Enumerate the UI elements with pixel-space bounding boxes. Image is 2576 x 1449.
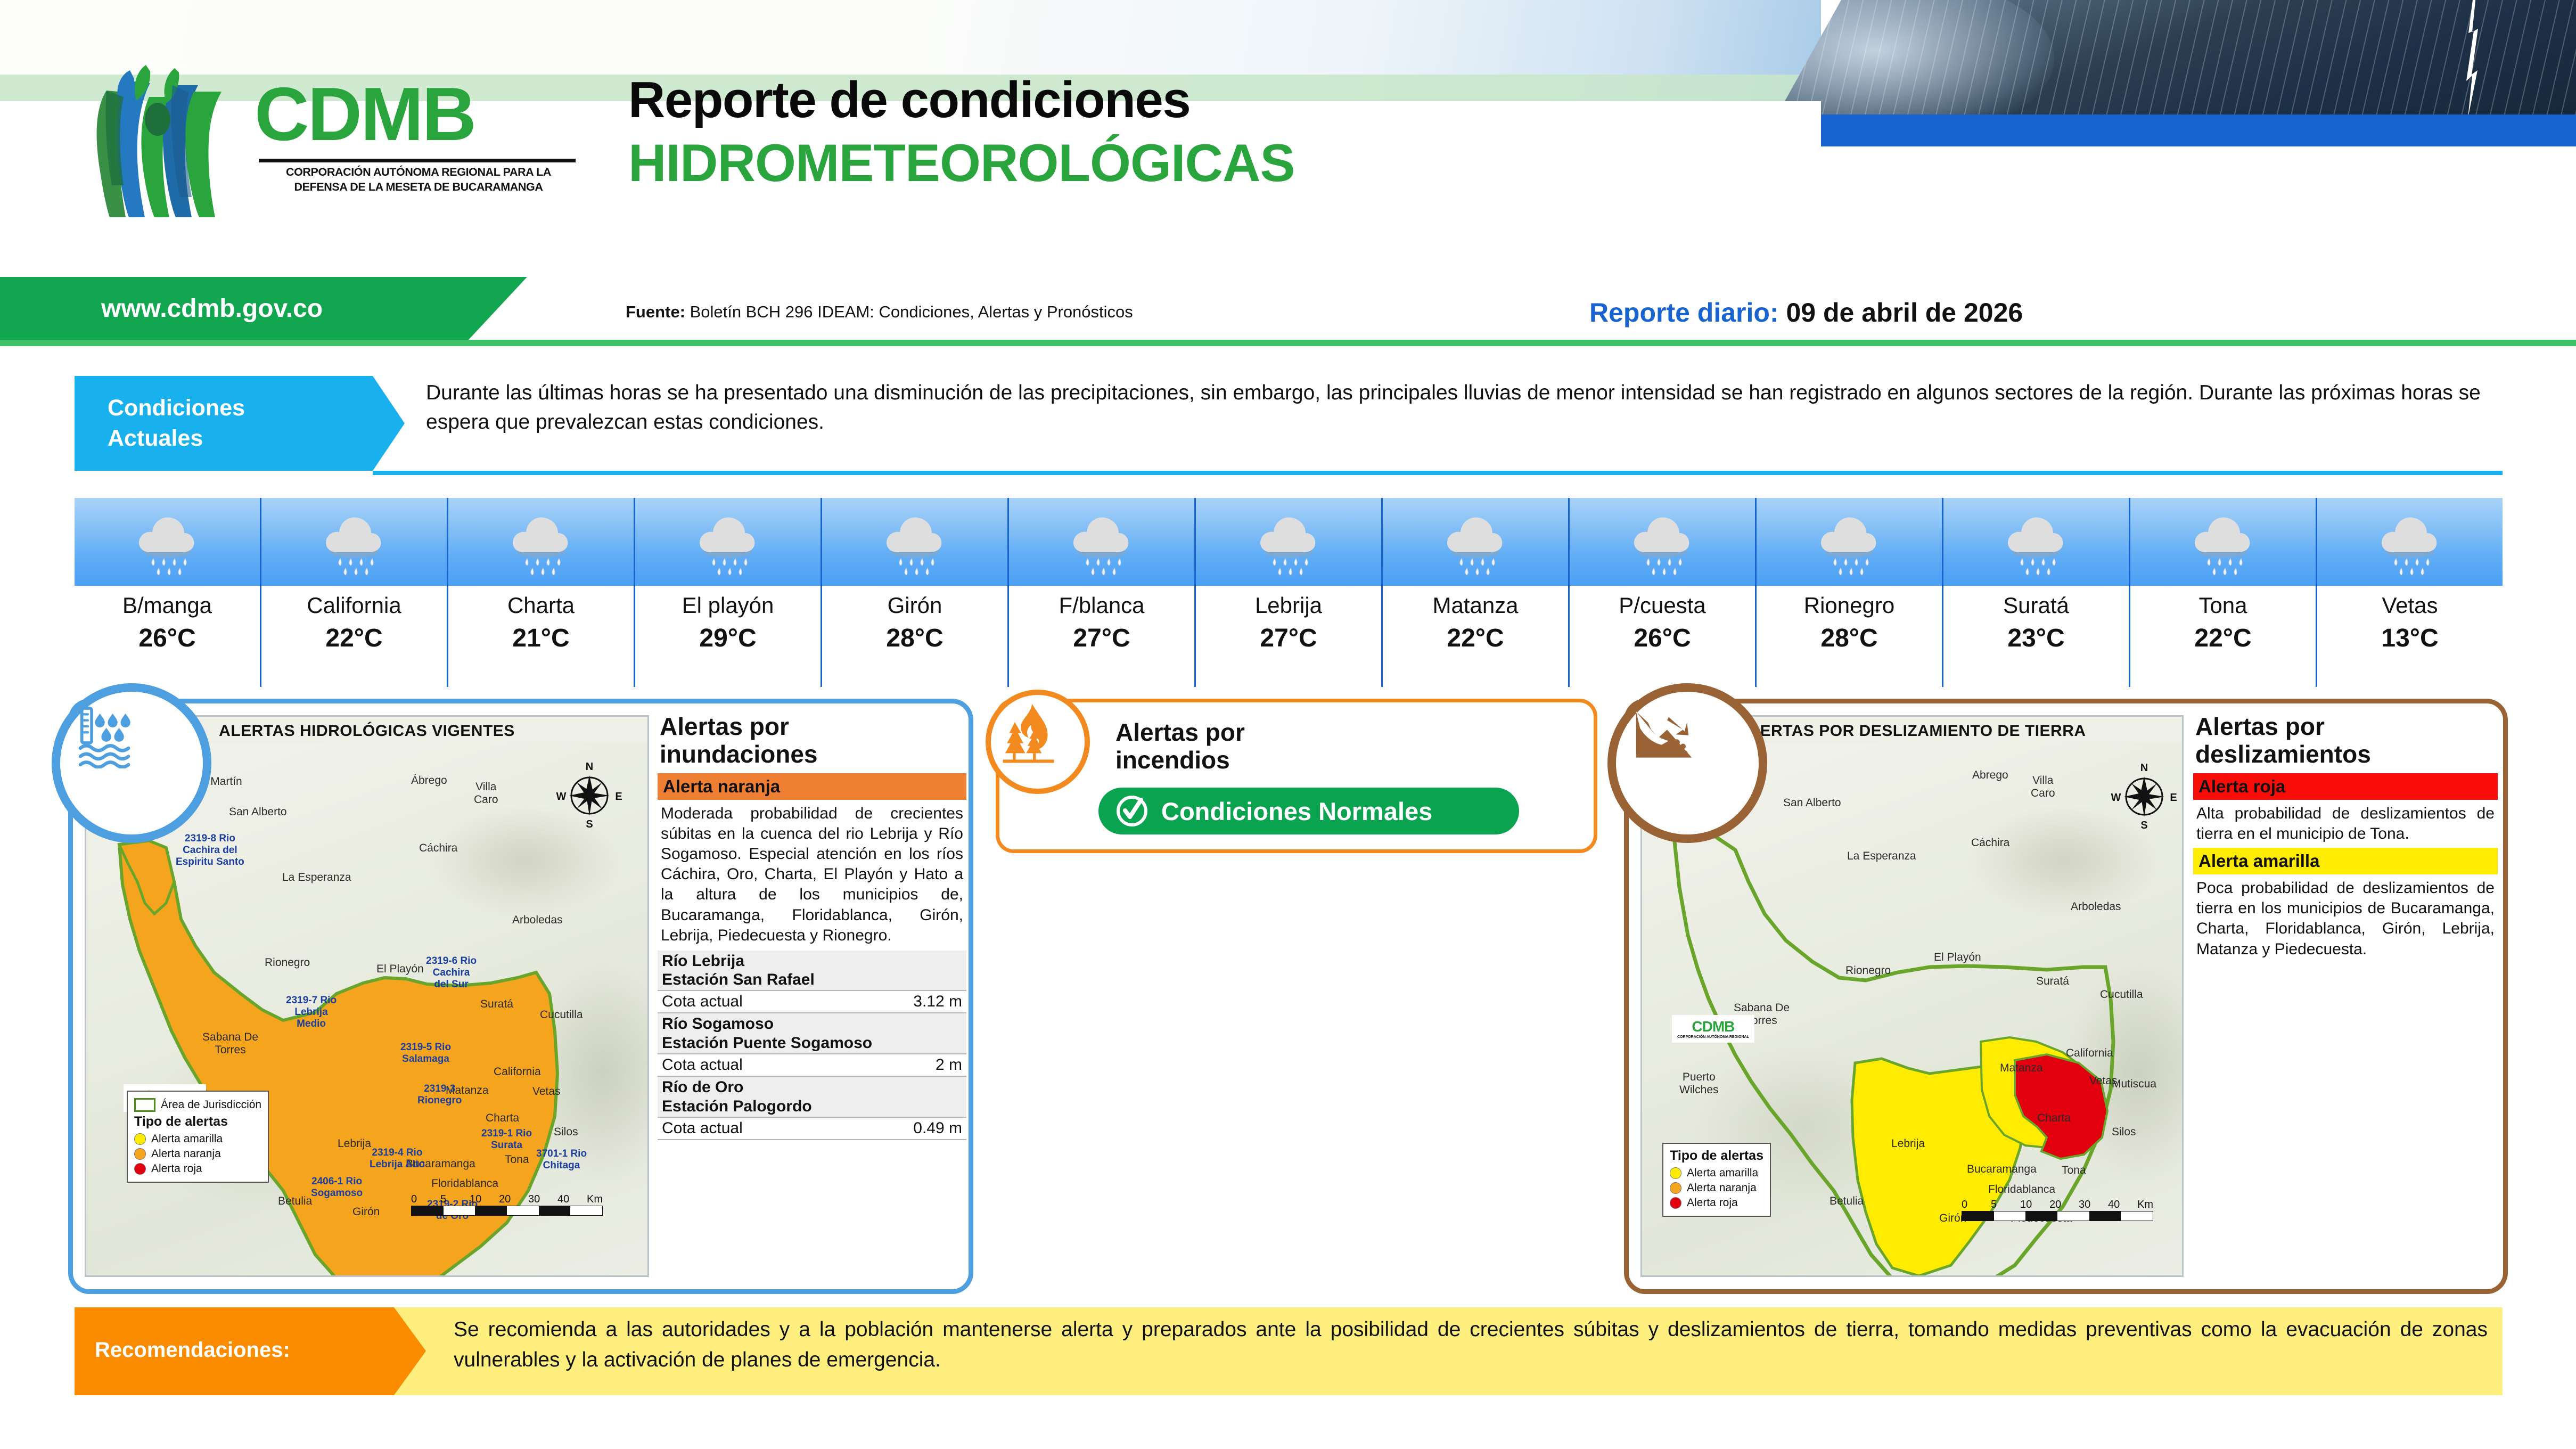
map-basin-label: 2319-6 RioCachiradel Sur — [426, 955, 477, 990]
map-label: Matanza — [2000, 1062, 2043, 1075]
table-row: Cota actual 3.12 m — [658, 990, 966, 1013]
cdmb-figures-icon — [79, 60, 255, 219]
conditions-tab-line1: Condiciones — [108, 393, 245, 423]
weather-column[interactable]: El playón 29°C — [635, 498, 822, 687]
fire-panel-title: Alertas por incendios — [1115, 718, 1245, 774]
svg-text:W: W — [556, 791, 567, 803]
station-metric-label: Cota actual — [658, 990, 846, 1013]
compass-rose-icon: N S E W — [2110, 760, 2179, 830]
map-label: San Alberto — [229, 806, 287, 818]
map-label: Sabana DeTorres — [202, 1031, 258, 1057]
weather-temperature: 22°C — [261, 624, 447, 653]
water-level-icon — [75, 705, 139, 768]
website-url[interactable]: www.cdmb.gov.co — [101, 294, 323, 323]
scale-unit: Km — [2137, 1199, 2153, 1211]
report-date-line: Reporte diario: 09 de abril de 2026 — [1589, 297, 2023, 328]
legend-color-dot — [134, 1148, 146, 1160]
map-label: Tona — [505, 1153, 529, 1166]
map-label: Rionegro — [1845, 964, 1891, 977]
legend-row: Alerta naranja — [1670, 1182, 1763, 1194]
weather-temperature: 28°C — [822, 624, 1007, 653]
flood-alert-details: Alertas por inundaciones Alerta naranja … — [658, 711, 966, 1285]
weather-column[interactable]: Lebrija 27°C — [1196, 498, 1383, 687]
page-header: CDMB CORPORACIÓN AUTÓNOMA REGIONAL PARA … — [0, 0, 2576, 277]
station-river: Río Sogamoso — [662, 1014, 962, 1033]
legend-label: Alerta roja — [151, 1163, 202, 1175]
weather-column[interactable]: F/blanca 27°C — [1009, 498, 1196, 687]
map-basin-label: 2319-8 RioCachira delEspiritu Santo — [176, 833, 244, 868]
header-blue-band — [1777, 114, 2576, 146]
weather-column[interactable]: B/manga 26°C — [75, 498, 261, 687]
weather-temperature: 22°C — [1383, 624, 1568, 653]
weather-city-name: B/manga — [75, 593, 260, 618]
legend-label: Alerta amarilla — [151, 1133, 223, 1145]
table-row: Río de Oro Estación Palogordo — [658, 1076, 966, 1117]
cdmb-logo: CDMB CORPORACIÓN AUTÓNOMA REGIONAL PARA … — [79, 60, 611, 225]
map-label: Cucutilla — [2100, 988, 2143, 1001]
flood-map-scalebar: 0510203040Km — [411, 1193, 603, 1216]
map-cdmb-watermark: CDMB CORPORACIÓN AUTÓNOMA REGIONAL — [1672, 1015, 1754, 1043]
scale-tick: 20 — [499, 1193, 528, 1206]
map-label: Lebrija — [1891, 1137, 1925, 1150]
weather-temperature: 27°C — [1009, 624, 1194, 653]
station-name: Estación Palogordo — [662, 1097, 962, 1116]
rain-cloud-icon — [1257, 505, 1320, 580]
rain-cloud-icon — [322, 505, 386, 580]
map-label: Arboledas — [512, 914, 563, 927]
legend-row: Alerta roja — [134, 1163, 261, 1175]
legend-label: Alerta amarilla — [1687, 1167, 1758, 1180]
legend-title: Tipo de alertas — [134, 1114, 261, 1129]
rain-cloud-icon — [696, 505, 760, 580]
compass-rose-icon: N S E W — [555, 759, 624, 829]
weather-column[interactable]: Girón 28°C — [822, 498, 1009, 687]
map-label: La Esperanza — [282, 871, 351, 884]
station-river: Río de Oro — [662, 1078, 962, 1096]
logo-subtitle: CORPORACIÓN AUTÓNOMA REGIONAL PARA LA DE… — [259, 165, 578, 194]
recommendations-tab-label: Recomendaciones: — [95, 1338, 290, 1362]
map-label: Charta — [2037, 1112, 2071, 1125]
landslide-alerts-list: Alerta roja Alta probabilidad de desliza… — [2193, 773, 2498, 963]
map-label: PuertoWilches — [1679, 1071, 1719, 1096]
map-label: Charta — [486, 1112, 519, 1125]
weather-column[interactable]: Tona 22°C — [2130, 498, 2317, 687]
landslide-panel-title-line1: Alertas por — [2195, 713, 2498, 741]
scale-tick: 10 — [2020, 1199, 2049, 1211]
legend-color-dot — [1670, 1167, 1681, 1179]
legend-jurisdiction-swatch — [134, 1098, 155, 1112]
scale-tick: 30 — [2079, 1199, 2108, 1211]
map-basin-label: 2319-3Rionegro — [417, 1083, 462, 1107]
legend-row: Alerta amarilla — [134, 1133, 261, 1145]
svg-text:E: E — [615, 791, 622, 803]
rain-cloud-icon — [2378, 505, 2442, 580]
scale-tick: 10 — [470, 1193, 499, 1206]
map-basin-label: 2319-4 RioLebrija Alto — [370, 1147, 425, 1170]
storm-photo-banner — [1777, 0, 2576, 114]
rain-cloud-icon — [696, 505, 760, 580]
weather-city-name: Vetas — [2317, 593, 2503, 618]
station-name: Estación San Rafael — [662, 970, 962, 989]
weather-temperature: 21°C — [448, 624, 634, 653]
weather-temperature: 28°C — [1757, 624, 1942, 653]
logo-subtitle-line2: DEFENSA DE LA MESETA DE BUCARAMANGA — [259, 180, 578, 195]
map-label: Rionegro — [265, 956, 310, 969]
weather-temperature: 26°C — [75, 624, 260, 653]
weather-city-name: Matanza — [1383, 593, 1568, 618]
source-line: Fuente: Boletín BCH 296 IDEAM: Condicion… — [626, 302, 1133, 322]
map-label: La Esperanza — [1847, 850, 1916, 863]
landslide-alert-details: Alertas por deslizamientos Alerta roja A… — [2193, 711, 2498, 1285]
rain-cloud-icon — [1443, 505, 1507, 580]
svg-text:N: N — [586, 761, 593, 773]
weather-temperature: 29°C — [635, 624, 821, 653]
scale-tick: 5 — [1991, 1199, 2020, 1211]
scale-tick: 0 — [1962, 1199, 1991, 1211]
map-label: Tona — [2062, 1164, 2086, 1177]
map-label: VillaCaro — [474, 781, 498, 806]
conditions-tab: Condiciones Actuales — [75, 376, 405, 471]
map-label: Suratá — [480, 998, 513, 1011]
station-metric-value: 3.12 m — [846, 990, 966, 1013]
weather-temperature: 22°C — [2130, 624, 2316, 653]
weather-column[interactable]: P/cuesta 26°C — [1570, 498, 1757, 687]
check-circle-icon — [1114, 793, 1150, 829]
rain-cloud-icon — [135, 505, 199, 580]
website-banner: www.cdmb.gov.co — [0, 277, 527, 340]
map-label: Silos — [2112, 1126, 2136, 1139]
station-metric-label: Cota actual — [658, 1054, 846, 1076]
conditions-underline — [373, 471, 2503, 475]
flood-alert-level-badge: Alerta naranja — [658, 773, 966, 800]
rain-cloud-icon — [2191, 505, 2255, 580]
landslide-icon — [1632, 707, 1696, 766]
svg-text:S: S — [2140, 820, 2147, 830]
fire-icon-badge — [986, 690, 1090, 794]
cdmb-wordmark: CDMB — [255, 77, 475, 152]
landslide-map-legend: Tipo de alertas Alerta amarilla Alerta n… — [1662, 1143, 1771, 1217]
flood-panel-title: Alertas por inundaciones — [660, 713, 966, 768]
svg-text:E: E — [2170, 792, 2177, 804]
rain-cloud-icon — [883, 505, 947, 580]
landslide-alert-level-badge: Alerta amarilla — [2193, 848, 2498, 874]
station-river: Río Lebrija — [662, 952, 962, 970]
map-basin-label: 2319-5 RioSalamaga — [400, 1042, 451, 1065]
weather-city-name: Tona — [2130, 593, 2316, 618]
table-row: Río Lebrija Estación San Rafael — [658, 951, 966, 991]
legend-label: Alerta naranja — [151, 1148, 221, 1160]
map-label: California — [2066, 1047, 2113, 1060]
rain-cloud-icon — [1630, 505, 1694, 580]
logo-subtitle-line1: CORPORACIÓN AUTÓNOMA REGIONAL PARA LA — [259, 165, 578, 180]
url-and-date-bar: www.cdmb.gov.co Fuente: Boletín BCH 296 … — [0, 277, 2576, 346]
report-date-label: Reporte diario: — [1589, 298, 1779, 328]
page-title: Reporte de condiciones — [628, 75, 1190, 126]
table-row: Cota actual 2 m — [658, 1054, 966, 1076]
map-label: Suratá — [2036, 975, 2069, 988]
rain-cloud-icon — [2004, 505, 2068, 580]
weather-city-name: El playón — [635, 593, 821, 618]
map-label: Cáchira — [1971, 837, 2009, 849]
table-row: Río Sogamoso Estación Puente Sogamoso — [658, 1013, 966, 1054]
landslide-panel-title-line2: deslizamientos — [2195, 741, 2498, 768]
legend-row: Alerta amarilla — [1670, 1167, 1763, 1180]
map-label: Cáchira — [419, 842, 457, 855]
map-basin-label: 2319-7 RioLebrijaMedio — [286, 995, 337, 1030]
svg-text:W: W — [2111, 792, 2121, 804]
flood-panel-title-line1: Alertas por — [660, 713, 966, 741]
rain-cloud-icon — [1817, 505, 1881, 580]
map-basin-label: 2319-1 RioSurata — [481, 1128, 532, 1151]
map-label: Floridablanca — [1988, 1183, 2055, 1196]
weather-city-name: Charta — [448, 593, 634, 618]
legend-row: Área de Jurisdicción — [134, 1098, 261, 1112]
recommendations-text: Se recomienda a las autoridades y a la p… — [454, 1315, 2488, 1375]
rain-cloud-icon — [2004, 505, 2068, 580]
weather-temperature: 27°C — [1196, 624, 1381, 653]
map-label: Floridablanca — [431, 1177, 498, 1190]
weather-city-name: Suratá — [1943, 593, 2129, 618]
lightning-bolt-icon — [2462, 0, 2483, 118]
weather-column[interactable]: Matanza 22°C — [1383, 498, 1570, 687]
rain-cloud-icon — [322, 505, 386, 580]
scale-tick: 40 — [2108, 1199, 2137, 1211]
rain-cloud-icon — [1070, 505, 1134, 580]
weather-column[interactable]: Suratá 23°C — [1943, 498, 2130, 687]
flood-alert-card: ALERTAS HIDROLÓGICAS VIGENTES San Martín… — [68, 699, 973, 1294]
map-basin-label: 3701-1 RioChitaga — [536, 1148, 587, 1172]
source-label: Fuente: — [626, 302, 685, 321]
map-label: Lebrija — [338, 1137, 371, 1150]
flood-panel-title-line2: inundaciones — [660, 741, 966, 768]
flood-map-legend: Área de Jurisdicción Tipo de alertas Ale… — [127, 1091, 269, 1183]
fire-forest-icon — [998, 700, 1062, 764]
rain-cloud-icon — [2191, 505, 2255, 580]
rain-cloud-icon — [509, 505, 573, 580]
map-label: Betulia — [278, 1195, 312, 1208]
rain-cloud-icon — [135, 505, 199, 580]
recommendations-section: Recomendaciones: Se recomienda a las aut… — [75, 1307, 2503, 1403]
map-label: Ábrego — [411, 774, 447, 787]
map-label: Girón — [352, 1206, 380, 1218]
page-title-highlight: HIDROMETEOROLÓGICAS — [628, 136, 1295, 189]
rain-cloud-icon — [2378, 505, 2442, 580]
rain-cloud-icon — [1817, 505, 1881, 580]
map-label: VillaCaro — [2031, 774, 2055, 800]
rain-cloud-icon — [1070, 505, 1134, 580]
svg-text:N: N — [2140, 762, 2148, 774]
landslide-alert-level-badge: Alerta roja — [2193, 773, 2498, 800]
map-basin-label: 2406-1 RioSogamoso — [311, 1176, 363, 1199]
legend-label: Alerta naranja — [1687, 1182, 1757, 1194]
weather-city-name: Lebrija — [1196, 593, 1381, 618]
landslide-alert-description: Alta probabilidad de deslizamientos de t… — [2193, 800, 2498, 848]
weather-city-name: P/cuesta — [1570, 593, 1755, 618]
weather-strip: B/manga 26°C California 22°C Charta 21°C — [75, 498, 2503, 687]
weather-column[interactable]: Charta 21°C — [448, 498, 635, 687]
flood-icon-badge — [52, 683, 211, 843]
legend-row: Alerta roja — [1670, 1197, 1763, 1209]
station-metric-value: 0.49 m — [846, 1117, 966, 1140]
flood-alert-description: Moderada probabilidad de crecientes súbi… — [658, 800, 966, 949]
green-divider-rule — [0, 340, 2576, 346]
map-label: Betulia — [1830, 1195, 1864, 1208]
weather-city-name: Rionegro — [1757, 593, 1942, 618]
legend-color-dot — [134, 1163, 146, 1175]
legend-color-dot — [1670, 1197, 1681, 1209]
logo-divider — [259, 159, 576, 162]
source-text: Boletín BCH 296 IDEAM: Condiciones, Aler… — [690, 302, 1133, 321]
landslide-panel-title: Alertas por deslizamientos — [2195, 713, 2498, 768]
map-label: Bucaramanga — [1967, 1163, 2037, 1176]
weather-column[interactable]: California 22°C — [261, 498, 448, 687]
legend-title: Tipo de alertas — [1670, 1148, 1763, 1164]
landslide-alert-description: Poca probabilidad de deslizamientos de t… — [2193, 874, 2498, 963]
map-label: California — [494, 1066, 541, 1078]
station-metric-label: Cota actual — [658, 1117, 846, 1140]
weather-temperature: 23°C — [1943, 624, 2129, 653]
legend-color-dot — [134, 1133, 146, 1145]
conditions-tab-line2: Actuales — [108, 423, 245, 454]
map-label: Silos — [554, 1126, 578, 1139]
weather-city-name: California — [261, 593, 447, 618]
rain-streaks — [1777, 0, 2576, 114]
weather-temperature: 13°C — [2317, 624, 2503, 653]
current-conditions-section: Condiciones Actuales Durante las últimas… — [75, 373, 2503, 474]
weather-city-name: Girón — [822, 593, 1007, 618]
rain-cloud-icon — [1630, 505, 1694, 580]
weather-temperature: 26°C — [1570, 624, 1755, 653]
conditions-text: Durante las últimas horas se ha presenta… — [426, 378, 2497, 437]
map-label: Vetas — [532, 1085, 561, 1098]
legend-label: Alerta roja — [1687, 1197, 1738, 1209]
map-label: Cucutilla — [540, 1009, 583, 1021]
map-label: El Playón — [1934, 951, 1981, 964]
scale-tick: 20 — [2049, 1199, 2079, 1211]
map-label: Mutiscua — [2112, 1078, 2156, 1091]
rain-cloud-icon — [883, 505, 947, 580]
fire-alert-card: Alertas por incendios Condiciones Normal… — [996, 699, 1597, 853]
landslide-map-scalebar: 0510203040Km — [1962, 1199, 2153, 1221]
station-name: Estación Puente Sogamoso — [662, 1034, 962, 1052]
landslide-icon-badge — [1607, 683, 1767, 843]
fire-panel-title-line1: Alertas por — [1115, 718, 1245, 746]
rain-cloud-icon — [509, 505, 573, 580]
alert-panels-row: ALERTAS HIDROLÓGICAS VIGENTES San Martín… — [0, 692, 2576, 1294]
recommendations-tab: Recomendaciones: — [75, 1307, 426, 1395]
legend-row: Alerta naranja — [134, 1148, 261, 1160]
rain-cloud-icon — [1257, 505, 1320, 580]
rain-cloud-icon — [1443, 505, 1507, 580]
map-label: Arboledas — [2071, 900, 2121, 913]
fire-panel-title-line2: incendios — [1115, 746, 1245, 774]
svg-text:S: S — [586, 818, 593, 829]
conditions-tab-label: Condiciones Actuales — [108, 393, 245, 454]
river-stations-table: Río Lebrija Estación San Rafael Cota act… — [658, 951, 966, 1140]
landslide-alert-card: ALERTAS POR DESLIZAMIENTO DE TIERRA San … — [1624, 699, 2508, 1294]
report-date-value: 09 de abril de 2026 — [1786, 298, 2023, 328]
fire-status-pill: Condiciones Normales — [1098, 788, 1519, 834]
scale-tick: 5 — [440, 1193, 470, 1206]
scale-tick: 30 — [528, 1193, 557, 1206]
weather-column[interactable]: Rionegro 28°C — [1757, 498, 1943, 687]
scale-tick: 40 — [557, 1193, 587, 1206]
legend-color-dot — [1670, 1182, 1681, 1194]
station-metric-value: 2 m — [846, 1054, 966, 1076]
scale-tick: 0 — [411, 1193, 440, 1206]
weather-city-name: F/blanca — [1009, 593, 1194, 618]
scale-unit: Km — [587, 1193, 603, 1206]
map-label: Abrego — [1972, 769, 2008, 782]
map-label: San Alberto — [1783, 797, 1841, 809]
legend-label: Área de Jurisdicción — [161, 1099, 261, 1111]
fire-status-label: Condiciones Normales — [1161, 797, 1432, 826]
weather-column[interactable]: Vetas 13°C — [2317, 498, 2503, 687]
map-label: El Playón — [376, 963, 424, 976]
table-row: Cota actual 0.49 m — [658, 1117, 966, 1140]
